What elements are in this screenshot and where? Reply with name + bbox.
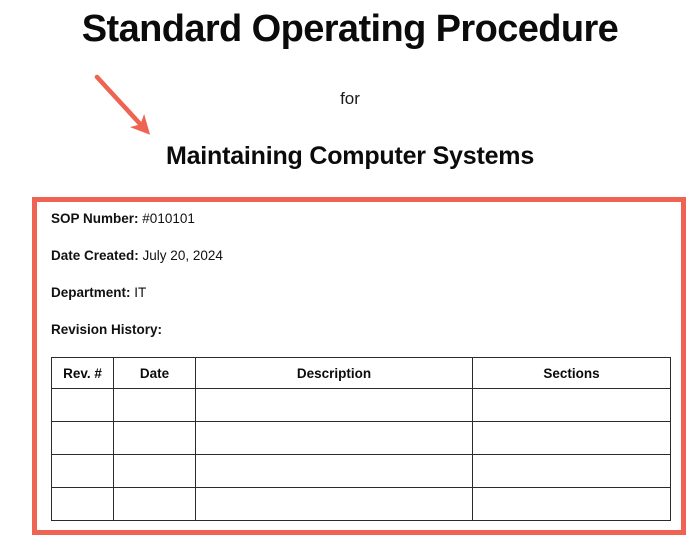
sop-info-box: SOP Number: #010101 Date Created: July 2… <box>32 197 686 535</box>
table-row[interactable] <box>52 455 671 488</box>
revision-history-label: Revision History: <box>51 322 162 337</box>
table-header-row: Rev. # Date Description Sections <box>52 358 671 389</box>
column-header-date: Date <box>114 358 196 389</box>
table-row[interactable] <box>52 422 671 455</box>
page-title: Standard Operating Procedure <box>0 6 700 52</box>
cell-description[interactable] <box>196 455 473 488</box>
date-created-label: Date Created: <box>51 248 139 263</box>
metadata-row-department: Department: IT <box>51 284 651 321</box>
column-header-description: Description <box>196 358 473 389</box>
cell-rev-number[interactable] <box>52 422 114 455</box>
cell-description[interactable] <box>196 422 473 455</box>
date-created-value: July 20, 2024 <box>143 248 223 263</box>
department-label: Department: <box>51 285 131 300</box>
table-row[interactable] <box>52 488 671 521</box>
metadata-row-revision-history: Revision History: <box>51 321 651 358</box>
column-header-rev-number: Rev. # <box>52 358 114 389</box>
cell-date[interactable] <box>114 389 196 422</box>
revision-history-table: Rev. # Date Description Sections <box>51 357 671 521</box>
cell-date[interactable] <box>114 488 196 521</box>
cell-date[interactable] <box>114 455 196 488</box>
metadata-row-sop-number: SOP Number: #010101 <box>51 210 651 247</box>
cell-sections[interactable] <box>473 488 671 521</box>
sop-number-value: #010101 <box>142 211 195 226</box>
department-value: IT <box>134 285 146 300</box>
column-header-sections: Sections <box>473 358 671 389</box>
page-subtitle: Maintaining Computer Systems <box>0 141 700 171</box>
cell-description[interactable] <box>196 389 473 422</box>
cell-sections[interactable] <box>473 455 671 488</box>
cell-date[interactable] <box>114 422 196 455</box>
cell-rev-number[interactable] <box>52 389 114 422</box>
cell-sections[interactable] <box>473 422 671 455</box>
revision-history-table-body <box>52 389 671 521</box>
table-row[interactable] <box>52 389 671 422</box>
sop-number-label: SOP Number: <box>51 211 139 226</box>
title-connector-text: for <box>0 88 700 110</box>
sop-metadata-list: SOP Number: #010101 Date Created: July 2… <box>51 210 651 358</box>
cell-rev-number[interactable] <box>52 488 114 521</box>
cell-description[interactable] <box>196 488 473 521</box>
metadata-row-date-created: Date Created: July 20, 2024 <box>51 247 651 284</box>
cell-rev-number[interactable] <box>52 455 114 488</box>
cell-sections[interactable] <box>473 389 671 422</box>
